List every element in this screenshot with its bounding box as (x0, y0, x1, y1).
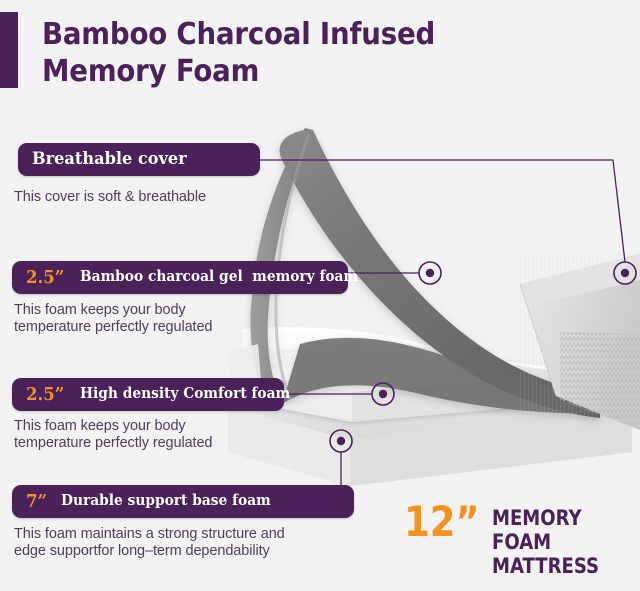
callout-description-comfort: This foam keeps your body temperature pe… (14, 418, 304, 452)
callout-badge-cover[interactable]: Breathable cover (18, 143, 260, 176)
callout-description-gel: This foam keeps your body temperature pe… (14, 302, 304, 336)
fabric-cover-panel (520, 254, 640, 430)
callout-description-base: This foam maintains a strong structure a… (14, 526, 354, 560)
callout-label-base: Durable support base foam (61, 494, 271, 509)
product-size-name: MEMORY FOAM MATTRESS (492, 506, 619, 578)
product-size-number: 12” (404, 503, 480, 541)
callout-description-cover: This cover is soft & breathable (14, 189, 304, 206)
callout-label-gel: Bamboo charcoal gel memory foam (80, 270, 358, 285)
callout-badge-base[interactable]: 7” Durable support base foam (12, 485, 354, 518)
title-accent-bar (0, 12, 18, 88)
page-title: Bamboo Charcoal Infused Memory Foam (0, 12, 469, 90)
title-text: Bamboo Charcoal Infused Memory Foam (42, 16, 435, 90)
callout-label-cover: Breathable cover (32, 151, 187, 168)
marker-dot-gel (419, 262, 441, 284)
callout-label-comfort: High density Comfort foam (80, 387, 290, 402)
callout-measure-base: 7” (26, 493, 47, 511)
callout-badge-comfort[interactable]: 2.5” High density Comfort foam (12, 378, 284, 411)
callout-badge-gel[interactable]: 2.5” Bamboo charcoal gel memory foam (12, 261, 348, 294)
callout-measure-gel: 2.5” (26, 269, 64, 287)
product-size-block: 12” MEMORY FOAM MATTRESS (404, 503, 640, 578)
callout-measure-comfort: 2.5” (26, 386, 64, 404)
infographic-canvas: Bamboo Charcoal Infused Memory Foam Brea… (0, 0, 640, 591)
